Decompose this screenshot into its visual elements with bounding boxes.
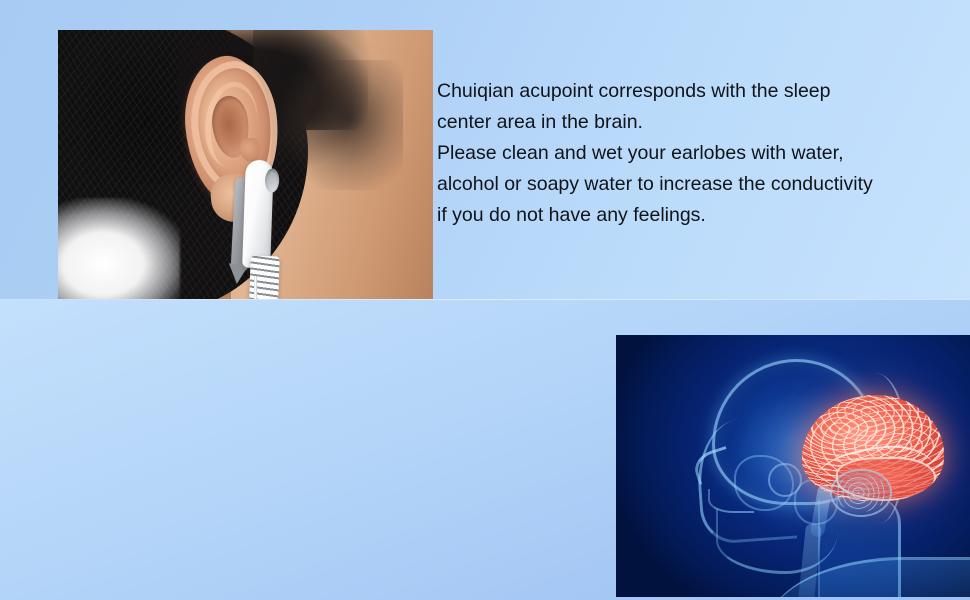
clip-front-arm: [242, 160, 274, 269]
brain-xray-illustration: [616, 335, 970, 597]
white-collar: [58, 198, 180, 299]
ear-with-clip-electrode-photo: [58, 30, 433, 299]
acupoint-panel: Chuiqian acupoint corresponds with the s…: [0, 0, 970, 300]
acupoint-line-1: Chuiqian acupoint corresponds with the s…: [437, 76, 937, 107]
hair-sideburn: [283, 60, 403, 190]
ear-clip-electrode: [231, 160, 283, 285]
acupoint-line-4: alcohol or soapy water to increase the c…: [437, 169, 937, 200]
clip-oval-hole: [265, 168, 280, 192]
infographic-page: Chuiqian acupoint corresponds with the s…: [0, 0, 970, 600]
acupoint-line-2: center area in the brain.: [437, 107, 937, 138]
electrode-wire: [254, 276, 257, 299]
cerebellum: [830, 469, 892, 517]
acupoint-line-3: Please clean and wet your earlobes with …: [437, 138, 937, 169]
acupoint-line-5: if you do not have any feelings.: [437, 200, 937, 231]
acupoint-text-block: Chuiqian acupoint corresponds with the s…: [437, 76, 937, 231]
